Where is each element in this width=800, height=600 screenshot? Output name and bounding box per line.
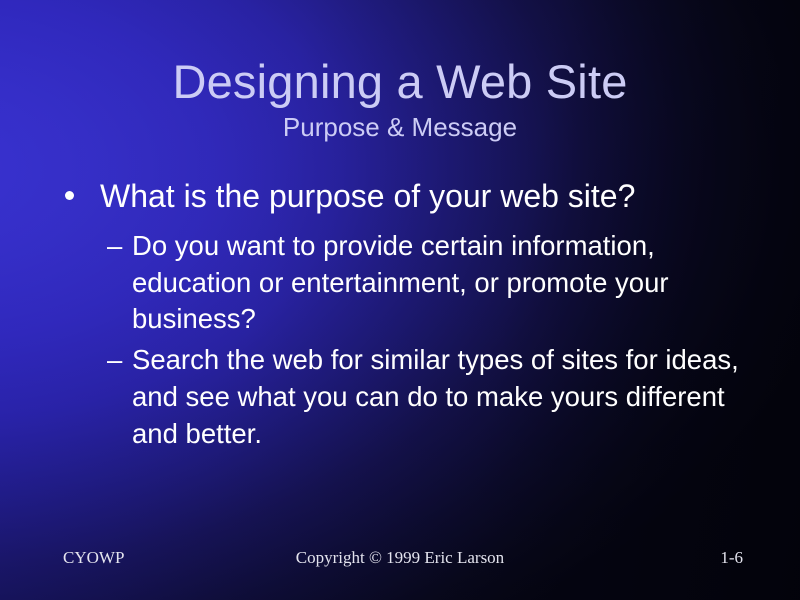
bullet-text: What is the purpose of your web site? (100, 178, 635, 214)
list-item: What is the purpose of your web site? (56, 178, 756, 216)
slide-body: What is the purpose of your web site? – … (56, 178, 756, 457)
slide-number: 1-6 (0, 548, 800, 568)
en-dash-icon: – (107, 228, 122, 265)
bullet-text: Do you want to provide certain informati… (132, 228, 744, 339)
slide-footer: CYOWP Copyright © 1999 Eric Larson 1-6 (0, 548, 800, 574)
slide-title-block: Designing a Web Site Purpose & Message (0, 58, 800, 141)
list-item: – Search the web for similar types of si… (56, 342, 756, 453)
list-item: – Do you want to provide certain informa… (56, 228, 756, 339)
en-dash-icon: – (107, 342, 122, 379)
bullet-dot-icon (65, 191, 74, 200)
presentation-slide: Designing a Web Site Purpose & Message W… (0, 0, 800, 600)
slide-subtitle: Purpose & Message (0, 113, 800, 142)
page-title: Designing a Web Site (0, 58, 800, 107)
bullet-text: Search the web for similar types of site… (132, 342, 744, 453)
